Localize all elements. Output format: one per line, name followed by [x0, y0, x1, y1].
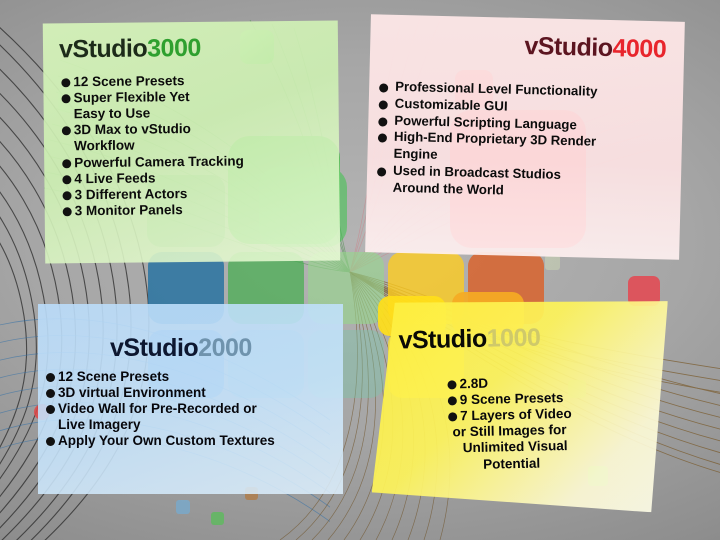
list-item: Potential — [471, 452, 671, 471]
bullet-icon — [379, 83, 388, 92]
feature-text: 4 Live Feeds — [74, 170, 155, 186]
feature-text: Powerful Camera Tracking — [74, 153, 244, 170]
bullet-icon — [62, 127, 71, 136]
title-number: 1000 — [486, 324, 540, 353]
bullet-icon — [471, 460, 480, 469]
panel-vstudio4000[interactable]: vStudio4000 Professional Level Functiona… — [365, 14, 685, 260]
bullet-icon — [62, 175, 71, 184]
feature-text: Unlimited Visual — [463, 438, 568, 455]
feature-text: 2.8D — [459, 376, 488, 392]
title-prefix: vStudio — [59, 34, 147, 63]
list-item: 4 Live Feeds — [62, 168, 339, 186]
list-item: Powerful Camera Tracking — [62, 152, 339, 170]
bullet-icon — [46, 437, 55, 446]
feature-text: Apply Your Own Custom Textures — [58, 433, 275, 448]
feature-text: Video Wall for Pre-Recorded or — [58, 401, 257, 416]
panel-vstudio3000[interactable]: vStudio3000 12 Scene Presets Super Flexi… — [43, 20, 340, 263]
bullet-icon — [61, 78, 70, 87]
list-item: Apply Your Own Custom Textures — [46, 433, 343, 448]
panel-title-vstudio1000: vStudio1000 — [368, 297, 669, 356]
feature-text: 12 Scene Presets — [58, 369, 169, 384]
bullet-icon — [379, 100, 388, 109]
mosaic-accent-dot — [211, 512, 224, 525]
list-item: 12 Scene Presets — [46, 369, 343, 384]
feature-text: or Still Images for — [452, 422, 566, 439]
feature-text: 3 Different Actors — [74, 186, 187, 202]
bullet-icon — [377, 151, 386, 160]
feature-list-vstudio3000: 12 Scene Presets Super Flexible Yet Easy… — [61, 71, 339, 218]
feature-text: Customizable GUI — [395, 97, 508, 115]
bullet-icon — [46, 405, 55, 414]
bullet-icon — [448, 413, 457, 422]
feature-text: 9 Scene Presets — [460, 390, 564, 407]
bullet-icon — [62, 159, 71, 168]
title-number: 4000 — [612, 34, 666, 63]
list-item: Video Wall for Pre-Recorded or — [46, 401, 343, 416]
bullet-icon — [46, 421, 55, 430]
feature-text: 7 Layers of Video — [460, 406, 572, 423]
list-item: Super Flexible Yet — [61, 88, 338, 106]
list-item: 3D Max to vStudio — [62, 120, 339, 138]
bullet-icon — [62, 110, 71, 119]
bullet-icon — [61, 94, 70, 103]
bullet-icon — [46, 389, 55, 398]
bullet-icon — [378, 117, 387, 126]
bullet-icon — [63, 191, 72, 200]
title-number: 3000 — [147, 34, 201, 63]
panel-title-vstudio3000: vStudio3000 — [43, 20, 338, 64]
list-item: 3 Different Actors — [62, 184, 339, 202]
bullet-icon — [448, 396, 457, 405]
panel-title-vstudio4000: vStudio4000 — [370, 14, 685, 65]
feature-list-vstudio2000: 12 Scene Presets 3D virtual Environment … — [46, 369, 343, 449]
list-item: 12 Scene Presets — [61, 71, 338, 89]
bullet-icon — [451, 445, 460, 454]
feature-text: Potential — [483, 455, 540, 471]
bullet-icon — [447, 380, 456, 389]
mosaic-accent-dot — [545, 255, 560, 270]
title-prefix: vStudio — [398, 325, 487, 355]
feature-text: Easy to Use — [74, 106, 151, 122]
title-number: 2000 — [198, 334, 252, 362]
bullet-icon — [440, 429, 449, 438]
panel-vstudio1000[interactable]: vStudio1000 2.8D 9 Scene Presets 7 Layer… — [368, 297, 672, 518]
list-item: Easy to Use — [62, 104, 339, 122]
slide-canvas: vStudio3000 12 Scene Presets Super Flexi… — [0, 0, 720, 540]
list-item: Live Imagery — [46, 417, 343, 432]
panel-title-vstudio2000: vStudio2000 — [38, 304, 343, 363]
list-item: Workflow — [62, 136, 339, 154]
feature-text: Workflow — [74, 138, 135, 154]
feature-text: 12 Scene Presets — [73, 73, 184, 89]
feature-text: Around the World — [393, 180, 504, 197]
title-prefix: vStudio — [110, 334, 198, 362]
title-prefix: vStudio — [524, 32, 613, 62]
feature-text: 3 Monitor Panels — [75, 202, 183, 218]
list-item: 3D virtual Environment — [46, 385, 343, 400]
feature-text: Engine — [393, 147, 437, 163]
feature-list-vstudio4000: Professional Level Functionality Customi… — [377, 79, 684, 202]
bullet-icon — [378, 134, 387, 143]
feature-text: Super Flexible Yet — [73, 89, 189, 105]
feature-text: 3D Max to vStudio — [74, 121, 191, 137]
feature-list-vstudio1000: 2.8D 9 Scene Presets 7 Layers of Video o… — [447, 372, 671, 472]
list-item: 3 Monitor Panels — [63, 200, 340, 218]
panel-vstudio2000[interactable]: vStudio2000 12 Scene Presets 3D virtual … — [38, 304, 343, 494]
feature-text: 3D virtual Environment — [58, 385, 206, 400]
bullet-icon — [46, 373, 55, 382]
bullet-icon — [62, 143, 71, 152]
feature-text: Live Imagery — [58, 417, 141, 432]
mosaic-accent-dot — [176, 500, 190, 514]
bullet-icon — [63, 207, 72, 216]
bullet-icon — [377, 167, 386, 176]
bullet-icon — [377, 184, 386, 193]
